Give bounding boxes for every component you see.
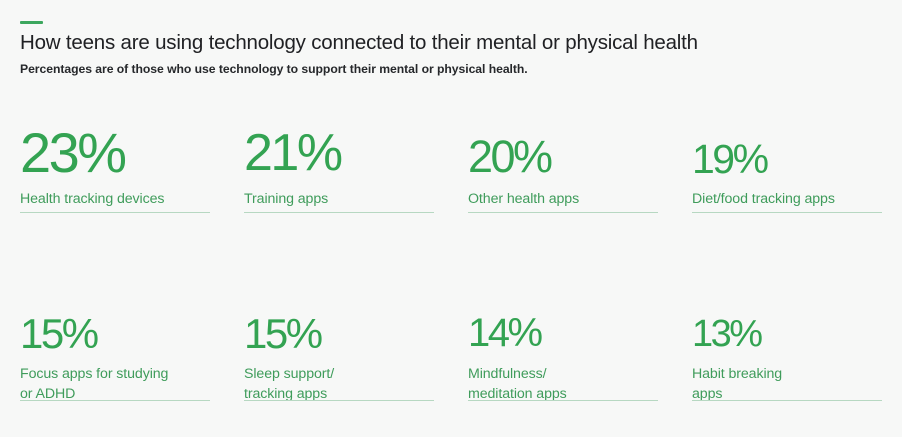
stat-label: Focus apps for studying or ADHD: [20, 364, 210, 404]
stat-label: Health tracking devices: [20, 189, 210, 209]
stat-cell: 15% Sleep support/ tracking apps: [244, 275, 434, 404]
page-subtitle: Percentages are of those who use technol…: [20, 62, 528, 76]
stat-value-box: 19%: [692, 100, 882, 176]
stat-value-box: 21%: [244, 100, 434, 176]
stat-label: Habit breaking apps: [692, 364, 882, 404]
stat-divider: [692, 400, 882, 401]
stat-label: Mindfulness/ meditation apps: [468, 364, 658, 404]
stat-divider: [20, 400, 210, 401]
stat-cell: 23% Health tracking devices: [20, 100, 210, 209]
stat-value: 13%: [692, 319, 761, 351]
stat-cell: 20% Other health apps: [468, 100, 658, 209]
stat-value-box: 14%: [468, 275, 658, 351]
infographic-root: How teens are using technology connected…: [0, 0, 902, 437]
stat-cell: 21% Training apps: [244, 100, 434, 209]
stat-row-2: 15% Focus apps for studying or ADHD 15% …: [20, 275, 882, 404]
stat-cell: 15% Focus apps for studying or ADHD: [20, 275, 210, 404]
stat-value: 14%: [468, 317, 541, 351]
stat-label: Diet/food tracking apps: [692, 189, 882, 209]
stat-cell: 19% Diet/food tracking apps: [692, 100, 882, 209]
stat-value: 15%: [244, 316, 321, 351]
stat-cell: 13% Habit breaking apps: [692, 275, 882, 404]
stat-value: 20%: [468, 138, 551, 176]
stat-value-box: 13%: [692, 275, 882, 351]
stat-value-box: 15%: [244, 275, 434, 351]
stat-label: Sleep support/ tracking apps: [244, 364, 434, 404]
stat-row-1: 23% Health tracking devices 21% Training…: [20, 100, 882, 209]
stat-value-box: 23%: [20, 100, 210, 176]
page-title: How teens are using technology connected…: [20, 31, 698, 55]
stat-value: 23%: [20, 129, 125, 176]
stat-divider: [468, 400, 658, 401]
stat-divider: [468, 212, 658, 213]
stat-value: 21%: [244, 132, 341, 176]
stat-value-box: 20%: [468, 100, 658, 176]
stat-value-box: 15%: [20, 275, 210, 351]
stat-label: Other health apps: [468, 189, 658, 209]
stat-value: 15%: [20, 316, 97, 351]
stat-divider: [244, 212, 434, 213]
stat-label: Training apps: [244, 189, 434, 209]
stat-value: 19%: [692, 142, 767, 176]
stat-divider: [692, 212, 882, 213]
stat-cell: 14% Mindfulness/ meditation apps: [468, 275, 658, 404]
stat-divider: [20, 212, 210, 213]
accent-rule: [20, 21, 43, 24]
stat-divider: [244, 400, 434, 401]
